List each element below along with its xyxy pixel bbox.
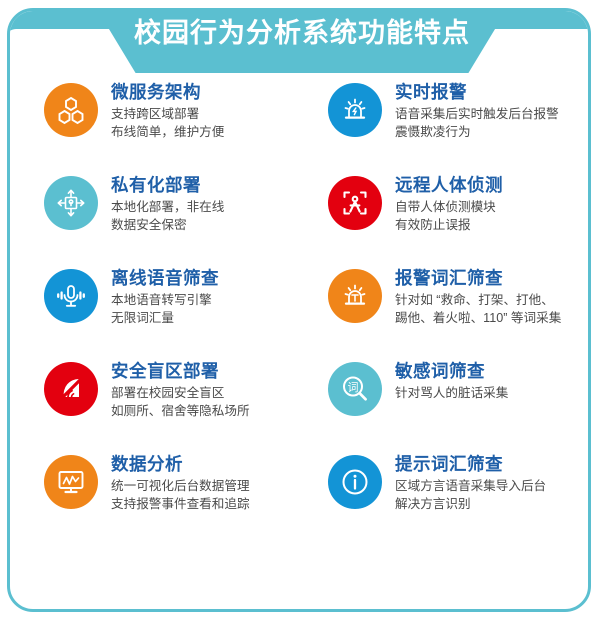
header-banner: 校园行为分析系统功能特点 (7, 8, 591, 73)
feature-desc-line-1: 部署在校园安全盲区 (111, 385, 250, 403)
microphone-icon (44, 269, 98, 323)
honeycomb-icon (44, 83, 98, 137)
feature-desc-line-2: 布线简单，维护方便 (111, 124, 224, 142)
feature-item-hint-word-screening: 提示词汇筛查 区域方言语音采集导入后台 解决方言识别 (302, 453, 588, 546)
feature-desc-line-1: 支持跨区域部署 (111, 106, 224, 124)
feature-desc-line-1: 统一可视化后台数据管理 (111, 478, 250, 496)
feature-text-block: 敏感词筛查 针对骂人的脏话采集 (395, 360, 508, 403)
person-scan-icon (328, 176, 382, 230)
feature-item-private-deployment: 私有化部署 本地化部署，非在线 数据安全保密 (10, 174, 302, 267)
feature-text-block: 实时报警 语音采集后实时触发后台报警 震慑欺凌行为 (395, 81, 559, 141)
feature-grid: 微服务架构 支持跨区域部署 布线简单，维护方便 实时 (10, 81, 588, 546)
feature-title: 数据分析 (111, 453, 250, 476)
magnifier-word-icon: 词 (328, 362, 382, 416)
feature-text-block: 微服务架构 支持跨区域部署 布线简单，维护方便 (111, 81, 224, 141)
signal-dish-icon (44, 362, 98, 416)
feature-item-remote-human-detection: 远程人体侦测 自带人体侦测模块 有效防止误报 (302, 174, 588, 267)
feature-item-data-analysis: 数据分析 统一可视化后台数据管理 支持报警事件查看和追踪 (10, 453, 302, 546)
feature-text-block: 安全盲区部署 部署在校园安全盲区 如厕所、宿舍等隐私场所 (111, 360, 250, 420)
feature-desc-line-2: 支持报警事件查看和追踪 (111, 496, 250, 514)
infographic-card: 校园行为分析系统功能特点 微服务架构 支持跨区域部署 布线简单，维护方便 (7, 8, 591, 612)
feature-title: 实时报警 (395, 81, 559, 104)
feature-title: 远程人体侦测 (395, 174, 503, 197)
feature-desc-line-1: 区域方言语音采集导入后台 (395, 478, 546, 496)
feature-desc-line-1: 针对骂人的脏话采集 (395, 385, 508, 403)
feature-desc-line-2: 数据安全保密 (111, 217, 224, 235)
feature-title: 报警词汇筛查 (395, 267, 561, 290)
alarm-siren-icon (328, 269, 382, 323)
monitor-chart-icon (44, 455, 98, 509)
feature-item-offline-voice-screening: 离线语音筛查 本地语音转写引擎 无限词汇量 (10, 267, 302, 360)
feature-item-alarm-word-screening: 报警词汇筛查 针对如 “救命、打架、打他、 踢他、着火啦、110” 等词采集 (302, 267, 588, 360)
feature-desc-line-1: 针对如 “救命、打架、打他、 (395, 292, 561, 310)
feature-title: 微服务架构 (111, 81, 224, 104)
feature-text-block: 报警词汇筛查 针对如 “救命、打架、打他、 踢他、着火啦、110” 等词采集 (395, 267, 561, 327)
feature-item-sensitive-word-screening: 词 敏感词筛查 针对骂人的脏话采集 (302, 360, 588, 453)
feature-item-blindspot-deployment: 安全盲区部署 部署在校园安全盲区 如厕所、宿舍等隐私场所 (10, 360, 302, 453)
svg-text:词: 词 (348, 381, 359, 394)
feature-desc-line-2: 如厕所、宿舍等隐私场所 (111, 403, 250, 421)
feature-title: 提示词汇筛查 (395, 453, 546, 476)
feature-text-block: 远程人体侦测 自带人体侦测模块 有效防止误报 (395, 174, 503, 234)
feature-title: 安全盲区部署 (111, 360, 250, 383)
feature-text-block: 私有化部署 本地化部署，非在线 数据安全保密 (111, 174, 224, 234)
feature-item-realtime-alarm: 实时报警 语音采集后实时触发后台报警 震慑欺凌行为 (302, 81, 588, 174)
feature-desc-line-2: 踢他、着火啦、110” 等词采集 (395, 310, 561, 328)
feature-title: 敏感词筛查 (395, 360, 508, 383)
feature-desc-line-2: 震慑欺凌行为 (395, 124, 559, 142)
feature-text-block: 提示词汇筛查 区域方言语音采集导入后台 解决方言识别 (395, 453, 546, 513)
feature-desc-line-1: 本地语音转写引擎 (111, 292, 219, 310)
feature-text-block: 数据分析 统一可视化后台数据管理 支持报警事件查看和追踪 (111, 453, 250, 513)
info-circle-icon (328, 455, 382, 509)
feature-text-block: 离线语音筛查 本地语音转写引擎 无限词汇量 (111, 267, 219, 327)
feature-item-microservice: 微服务架构 支持跨区域部署 布线简单，维护方便 (10, 81, 302, 174)
feature-title: 离线语音筛查 (111, 267, 219, 290)
alarm-siren-icon (328, 83, 382, 137)
feature-desc-line-1: 本地化部署，非在线 (111, 199, 224, 217)
move-lock-icon (44, 176, 98, 230)
feature-title: 私有化部署 (111, 174, 224, 197)
feature-desc-line-2: 解决方言识别 (395, 496, 546, 514)
feature-desc-line-1: 语音采集后实时触发后台报警 (395, 106, 559, 124)
feature-desc-line-1: 自带人体侦测模块 (395, 199, 503, 217)
feature-desc-line-2: 无限词汇量 (111, 310, 219, 328)
feature-desc-line-2: 有效防止误报 (395, 217, 503, 235)
